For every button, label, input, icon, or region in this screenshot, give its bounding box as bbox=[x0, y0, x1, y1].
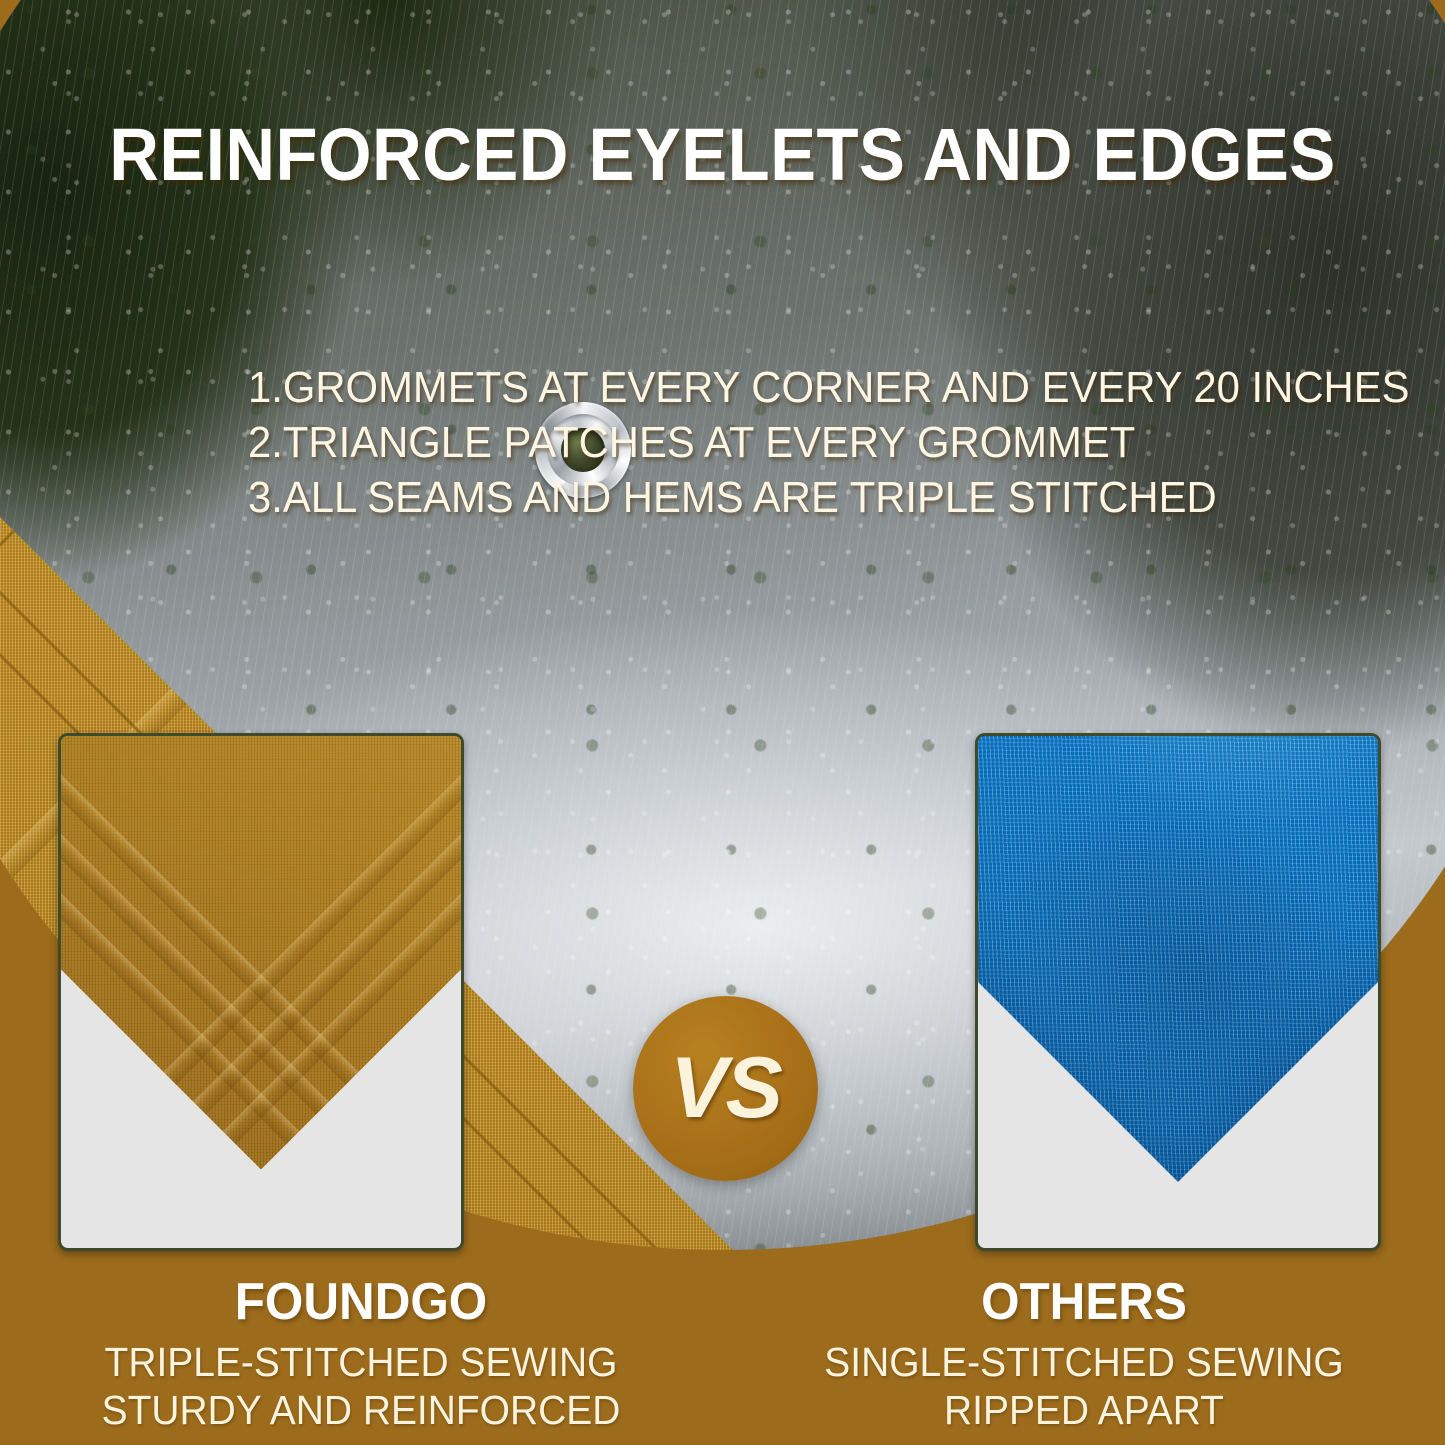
others-brand-name: OTHERS bbox=[741, 1276, 1427, 1328]
comparison-card-foundgo bbox=[58, 733, 464, 1251]
blue-poly-tarp-corner-image bbox=[975, 733, 1381, 1182]
foundgo-label-block: FOUNDGO TRIPLE-STITCHED SEWING STURDY AN… bbox=[0, 1276, 722, 1434]
foundgo-brand-name: FOUNDGO bbox=[18, 1276, 704, 1328]
foundgo-description-line-2: STURDY AND REINFORCED bbox=[18, 1386, 704, 1434]
feature-item-3: 3.ALL SEAMS AND HEMS ARE TRIPLE STITCHED bbox=[248, 470, 1312, 525]
vs-badge-label: VS bbox=[670, 1039, 781, 1138]
feature-item-1: 1.GROMMETS AT EVERY CORNER AND EVERY 20 … bbox=[248, 360, 1312, 415]
foundgo-tarp-corner-image bbox=[58, 733, 464, 1170]
comparison-card-others bbox=[975, 733, 1381, 1251]
feature-item-2: 2.TRIANGLE PATCHES AT EVERY GROMMET bbox=[248, 415, 1312, 470]
feature-list: 1.GROMMETS AT EVERY CORNER AND EVERY 20 … bbox=[248, 360, 1368, 525]
others-description-line-2: RIPPED APART bbox=[741, 1386, 1427, 1434]
product-feature-graphic: REINFORCED EYELETS AND EDGES 1.GROMMETS … bbox=[0, 0, 1445, 1445]
others-description-line-1: SINGLE-STITCHED SEWING bbox=[741, 1338, 1427, 1386]
vs-badge: VS bbox=[633, 996, 818, 1181]
foundgo-description-line-1: TRIPLE-STITCHED SEWING bbox=[18, 1338, 704, 1386]
page-title: REINFORCED EYELETS AND EDGES bbox=[51, 118, 1395, 192]
others-label-block: OTHERS SINGLE-STITCHED SEWING RIPPED APA… bbox=[723, 1276, 1445, 1434]
